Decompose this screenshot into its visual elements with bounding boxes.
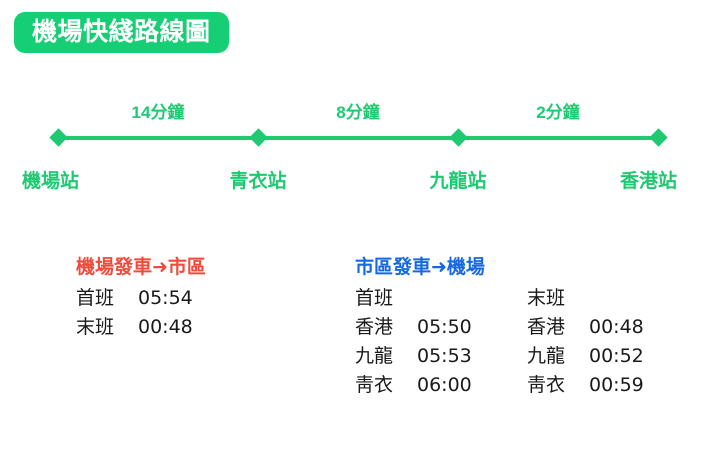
route-diagram: 14分鐘 8分鐘 2分鐘 機場站 青衣站 九龍站 香港站 — [0, 90, 714, 195]
segment-duration-2: 8分鐘 — [336, 98, 379, 123]
station-marker-airport[interactable] — [49, 128, 67, 146]
row-value: 05:53 — [417, 342, 472, 371]
row-label: 末班 — [76, 313, 128, 342]
last-train-column: 末班 香港 00:48 九龍 00:52 靑衣 00:59 — [527, 284, 644, 400]
segment-duration-3: 2分鐘 — [536, 98, 579, 123]
station-marker-kowloon[interactable] — [449, 128, 467, 146]
row-value: 00:59 — [589, 371, 644, 400]
schedule-row: 九龍 05:53 — [355, 342, 527, 371]
schedule-block-city-to-airport: 市區發車➜機場 首班 香港 05:50 九龍 05:53 靑衣 06:00 — [355, 255, 644, 400]
station-label-kowloon[interactable]: 九龍站 — [429, 166, 486, 193]
schedule-block-airport-to-city: 機場發車➜市區 首班 05:54 末班 00:48 — [76, 255, 206, 342]
station-marker-hongkong[interactable] — [649, 128, 667, 146]
row-value: 00:48 — [138, 313, 193, 342]
row-label: 九龍 — [355, 342, 407, 371]
first-train-column: 首班 香港 05:50 九龍 05:53 靑衣 06:00 — [355, 284, 527, 400]
page-title: 機場快綫路線圖 — [32, 20, 211, 45]
row-value: 00:48 — [589, 313, 644, 342]
row-label: 靑衣 — [527, 371, 579, 400]
schedule-row: 九龍 00:52 — [527, 342, 644, 371]
row-label: 九龍 — [527, 342, 579, 371]
station-label-tsingyi[interactable]: 青衣站 — [229, 166, 286, 193]
schedule-title-city-to-airport: 市區發車➜機場 — [355, 255, 644, 281]
page-title-badge: 機場快綫路線圖 — [14, 12, 229, 53]
schedule-row: 靑衣 06:00 — [355, 371, 527, 400]
schedule-title-airport-to-city: 機場發車➜市區 — [76, 255, 206, 281]
row-value: 06:00 — [417, 371, 472, 400]
row-label: 靑衣 — [355, 371, 407, 400]
row-label: 首班 — [76, 284, 128, 313]
schedule-row: 靑衣 00:59 — [527, 371, 644, 400]
schedule-row: 首班 05:54 — [76, 284, 193, 313]
schedule-row: 末班 00:48 — [76, 313, 193, 342]
first-train-heading: 首班 — [355, 284, 527, 313]
schedule-row: 香港 00:48 — [527, 313, 644, 342]
row-label: 香港 — [355, 313, 407, 342]
row-value: 05:50 — [417, 313, 472, 342]
station-marker-tsingyi[interactable] — [249, 128, 267, 146]
row-value: 00:52 — [589, 342, 644, 371]
row-value: 05:54 — [138, 284, 193, 313]
station-label-airport[interactable]: 機場站 — [22, 166, 79, 193]
last-train-heading: 末班 — [527, 284, 644, 313]
segment-duration-1: 14分鐘 — [132, 98, 185, 123]
route-line — [58, 136, 659, 140]
row-label: 香港 — [527, 313, 579, 342]
schedule-row: 香港 05:50 — [355, 313, 527, 342]
station-label-hongkong[interactable]: 香港站 — [620, 166, 677, 193]
